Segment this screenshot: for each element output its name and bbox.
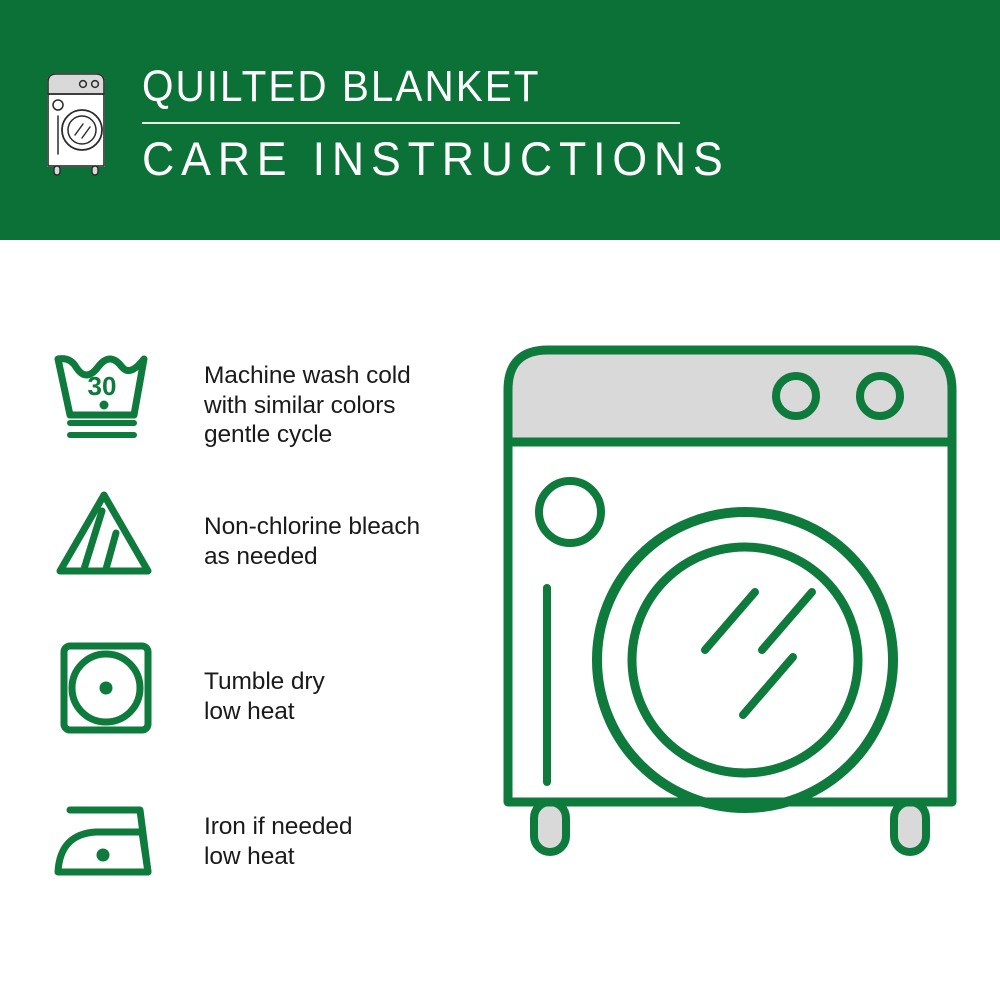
tumble-dry-low-icon [48, 638, 160, 738]
header-content: QUILTED BLANKET CARE INSTRUCTIONS [42, 62, 761, 185]
page-title: QUILTED BLANKET [142, 62, 711, 112]
care-item-text: Non-chlorine bleach as needed [204, 483, 420, 571]
title-divider [142, 122, 680, 124]
care-instructions-page: QUILTED BLANKET CARE INSTRUCTIONS 30 Mac… [0, 0, 1000, 1000]
page-subtitle: CARE INSTRUCTIONS [142, 133, 730, 185]
care-instructions-list: 30 Machine wash cold with similar colors… [0, 240, 490, 1000]
washing-machine-icon [42, 70, 110, 178]
header-band: QUILTED BLANKET CARE INSTRUCTIONS [0, 0, 1000, 240]
care-item-bleach: Non-chlorine bleach as needed [48, 483, 420, 583]
machine-leg-left [534, 802, 566, 852]
care-item-wash: 30 Machine wash cold with similar colors… [48, 343, 411, 450]
care-item-tumble-dry: Tumble dry low heat [48, 638, 325, 738]
header-title-group: QUILTED BLANKET CARE INSTRUCTIONS [142, 62, 761, 185]
iron-low-heat-icon [48, 790, 160, 890]
care-item-iron: Iron if needed low heat [48, 790, 352, 890]
machine-leg-right [894, 802, 926, 852]
non-chlorine-bleach-icon [48, 483, 160, 583]
control-panel [508, 350, 952, 442]
wash-30-gentle-icon: 30 [48, 343, 160, 443]
care-item-text: Iron if needed low heat [204, 790, 352, 871]
washing-machine-illustration [490, 330, 970, 930]
care-item-text: Tumble dry low heat [204, 638, 325, 726]
care-item-text: Machine wash cold with similar colors ge… [204, 343, 411, 450]
wash-temperature-label: 30 [88, 371, 117, 401]
